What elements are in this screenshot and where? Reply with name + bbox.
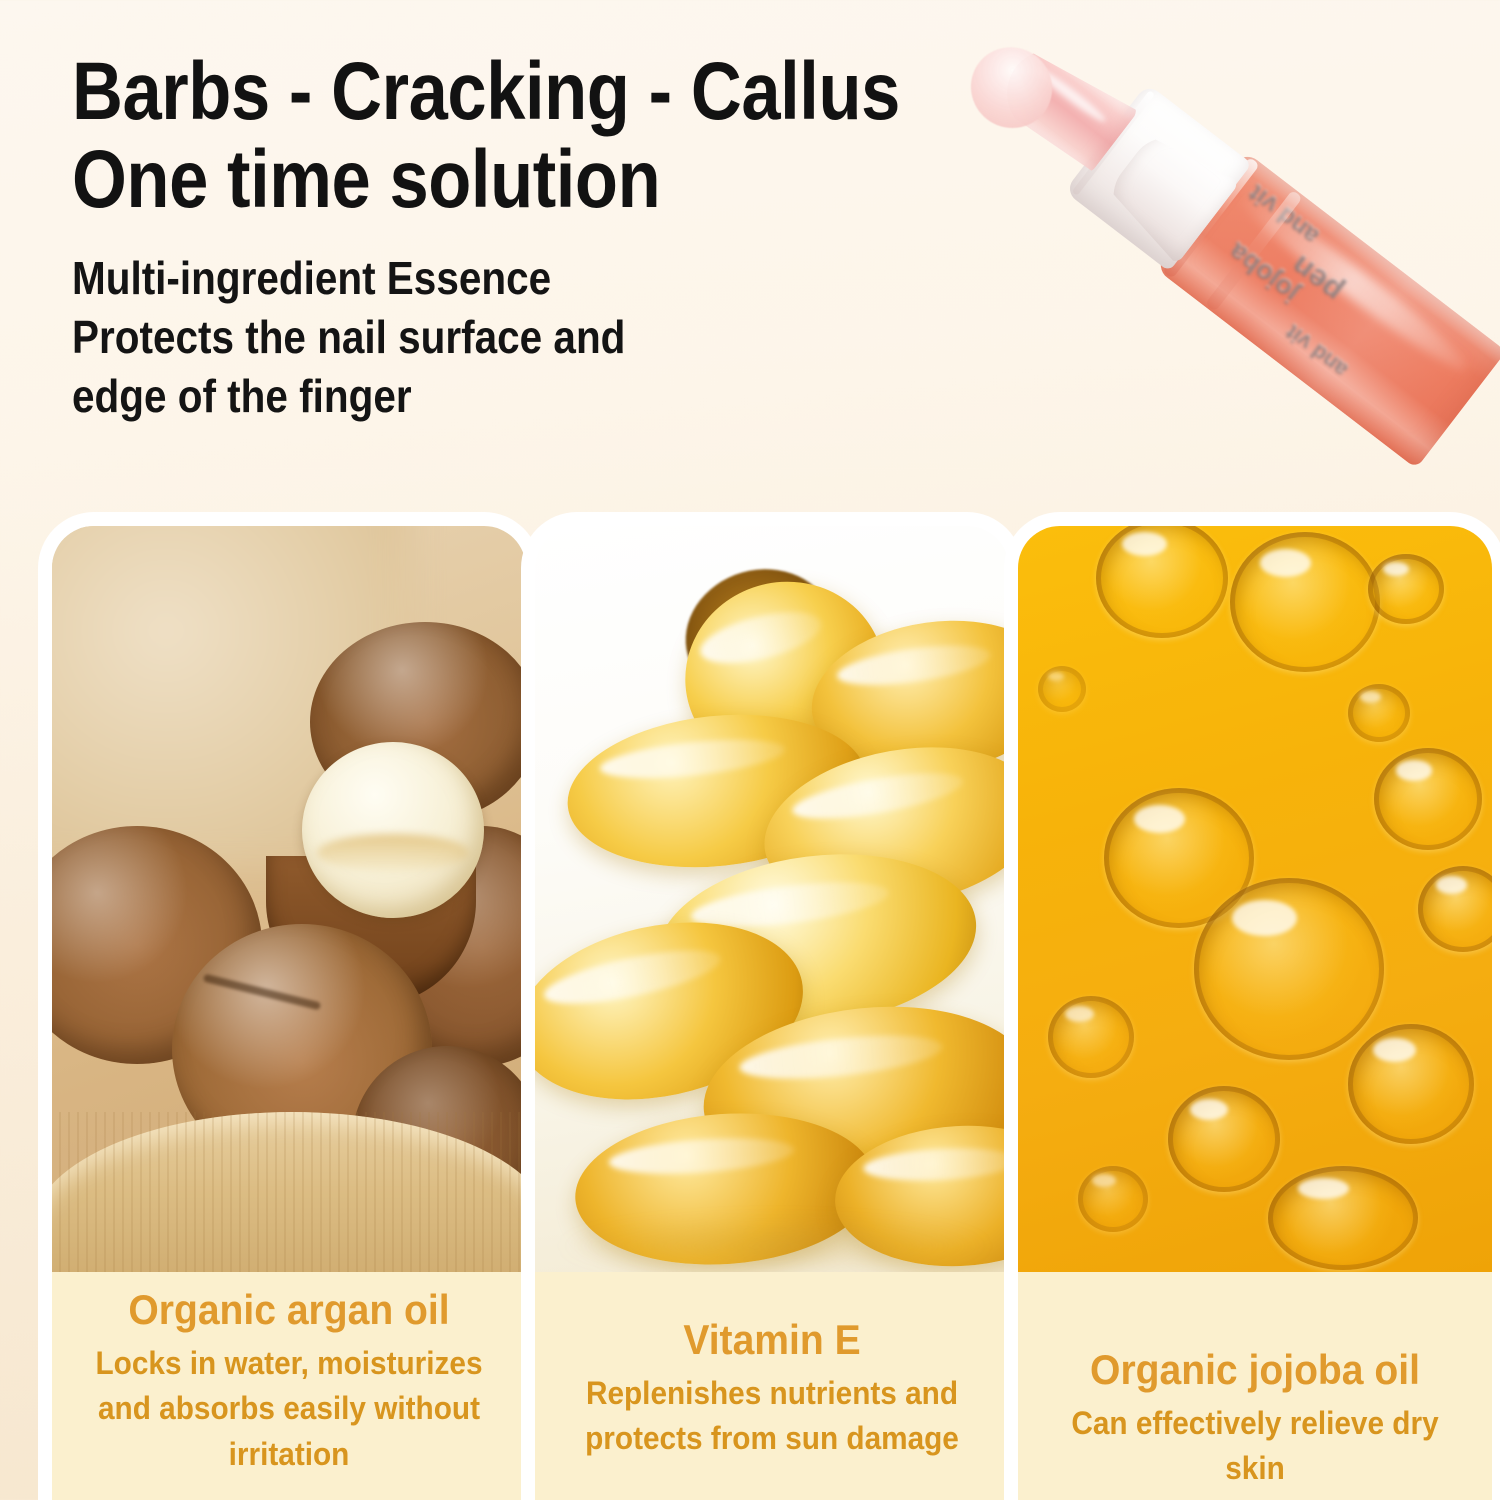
card-title: Organic argan oil <box>69 1286 510 1333</box>
pen-barrel-print: and vit pen jojoba and vit <box>1166 161 1489 455</box>
capsules-photo-backdrop <box>535 526 1009 1272</box>
pen-print-line-2: pen <box>1284 248 1350 310</box>
card-caption-argan-oil: Organic argan oil Locks in water, moistu… <box>52 1272 526 1500</box>
headline-line-2: One time solution <box>72 136 1001 224</box>
card-caption-vitamin-e: Vitamin E Replenishes nutrients and prot… <box>535 1272 1009 1500</box>
golden-jojoba-oil-photo <box>1018 526 1492 1272</box>
oil-bubble <box>1096 526 1228 638</box>
nuts-photo-backdrop <box>52 526 526 1272</box>
pen-print-line-3: jojoba <box>1223 236 1305 309</box>
pen-print-line-4: and vit <box>1281 319 1353 383</box>
ingredient-card-argan-oil[interactable]: Organic argan oil Locks in water, moistu… <box>52 526 526 1500</box>
vitamin-e-softgel-capsules-photo <box>535 526 1009 1272</box>
card-caption-jojoba-oil: Organic jojoba oil Can effectively relie… <box>1018 1272 1492 1500</box>
card-title: Vitamin E <box>552 1316 993 1363</box>
oil-bubble <box>1230 532 1380 672</box>
macadamia-nuts-photo <box>52 526 526 1272</box>
subheading-line-1: Multi-ingredient Essence <box>72 249 1022 308</box>
oil-bubble <box>1168 1086 1280 1192</box>
card-description: Can effectively relieve dry skin <box>1035 1401 1476 1492</box>
oil-bubble <box>1268 1166 1418 1270</box>
oil-bubble <box>1194 878 1384 1060</box>
wooden-bowl <box>52 1112 526 1272</box>
oil-bubble <box>1348 1024 1474 1144</box>
oil-bubble <box>1368 554 1444 624</box>
capsules-drop-shadow <box>555 1216 995 1272</box>
ingredient-cards-row: Organic argan oil Locks in water, moistu… <box>0 526 1500 1500</box>
pen-barrel <box>1154 150 1500 468</box>
oil-bubble <box>1374 748 1482 850</box>
card-title: Organic jojoba oil <box>1035 1346 1476 1393</box>
headline-line-1: Barbs - Cracking - Callus <box>72 48 1001 136</box>
oil-bubble <box>1048 996 1134 1078</box>
oil-bubble <box>1078 1166 1148 1232</box>
oil-bubble <box>1348 684 1410 742</box>
pen-ring-lower <box>1205 190 1303 312</box>
oil-bubble <box>1038 666 1086 712</box>
ingredient-card-vitamin-e[interactable]: Vitamin E Replenishes nutrients and prot… <box>535 526 1009 1500</box>
subheading-line-3: edge of the finger <box>72 367 1022 426</box>
card-description: Locks in water, moisturizes and absorbs … <box>69 1341 510 1477</box>
macadamia-kernel <box>302 742 484 918</box>
headline-block: Barbs - Cracking - Callus One time solut… <box>72 48 1152 426</box>
card-description: Replenishes nutrients and protects from … <box>552 1371 993 1462</box>
oil-bubble <box>1418 866 1492 952</box>
pen-ring-upper <box>1162 157 1260 279</box>
pen-print-line-1: and vit <box>1243 178 1325 250</box>
subheading-line-2: Protects the nail surface and <box>72 308 1022 367</box>
ingredient-card-jojoba-oil[interactable]: Organic jojoba oil Can effectively relie… <box>1018 526 1492 1500</box>
oil-photo-backdrop <box>1018 526 1492 1272</box>
